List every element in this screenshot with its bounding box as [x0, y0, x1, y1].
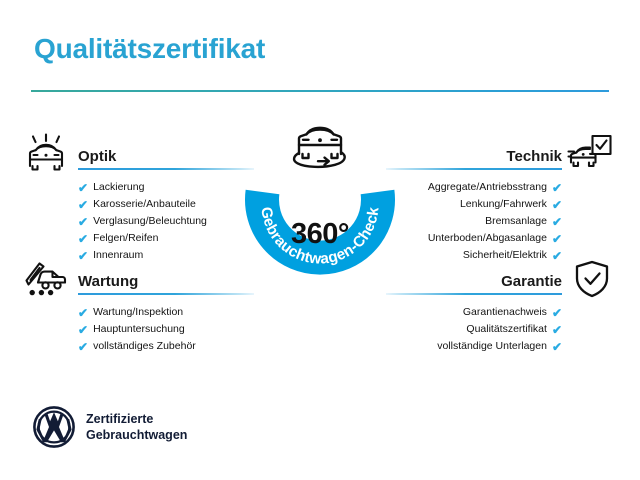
section-technik-list: Aggregate/Antriebsstrang ✔ Lenkung/Fahrw…	[386, 179, 562, 264]
list-item-label: Aggregate/Antriebsstrang	[428, 179, 547, 196]
list-item: ✔ Felgen/Reifen	[78, 230, 254, 247]
section-garantie-list: Garantienachweis ✔ Qualitätszertifikat ✔…	[386, 304, 562, 355]
check-icon: ✔	[78, 324, 88, 336]
list-item-label: Garantienachweis	[463, 304, 547, 321]
list-item: vollständige Unterlagen ✔	[386, 338, 562, 355]
section-wartung: Wartung ✔ Wartung/Inspektion ✔ Hauptunte…	[78, 265, 254, 355]
list-item: Garantienachweis ✔	[386, 304, 562, 321]
section-wartung-header: Wartung	[78, 265, 254, 295]
list-item-label: Karosserie/Anbauteile	[93, 196, 196, 213]
list-item-label: Sicherheit/Elektrik	[463, 247, 547, 264]
section-technik-divider	[386, 168, 562, 170]
list-item-label: Lackierung	[93, 179, 144, 196]
section-wartung-title: Wartung	[78, 273, 138, 290]
check-icon: ✔	[552, 233, 562, 245]
check-icon: ✔	[552, 341, 562, 353]
check-icon: ✔	[78, 182, 88, 194]
car-polish-shine-icon	[23, 133, 69, 173]
shield-check-icon	[569, 259, 615, 299]
section-garantie-divider	[386, 293, 562, 295]
section-garantie-title: Garantie	[501, 273, 562, 290]
list-item: ✔ Verglasung/Beleuchtung	[78, 213, 254, 230]
vw-text-line2: Gebrauchtwagen	[86, 427, 187, 443]
section-garantie-header: Garantie	[386, 265, 562, 295]
section-optik-header: Optik	[78, 140, 254, 170]
title-divider	[31, 90, 609, 92]
list-item-label: Qualitätszertifikat	[466, 321, 547, 338]
check-icon: ✔	[552, 324, 562, 336]
check-icon: ✔	[552, 307, 562, 319]
wrench-car-service-icon	[23, 258, 69, 298]
badge-360-gebrauchtwagen-check: Gebrauchtwagen-Check 360°	[237, 122, 403, 288]
page-title: Qualitätszertifikat	[34, 33, 265, 65]
check-icon: ✔	[552, 199, 562, 211]
list-item-label: Verglasung/Beleuchtung	[93, 213, 207, 230]
check-icon: ✔	[78, 307, 88, 319]
list-item: Bremsanlage ✔	[386, 213, 562, 230]
list-item-label: Lenkung/Fahrwerk	[460, 196, 547, 213]
check-icon: ✔	[552, 216, 562, 228]
section-wartung-list: ✔ Wartung/Inspektion ✔ Hauptuntersuchung…	[78, 304, 254, 355]
check-icon: ✔	[78, 199, 88, 211]
list-item: Qualitätszertifikat ✔	[386, 321, 562, 338]
check-icon: ✔	[78, 233, 88, 245]
volkswagen-logo	[33, 406, 75, 448]
certificate-page: Qualitätszertifikat Optik ✔ Lackierung ✔…	[0, 0, 640, 480]
list-item: ✔ Wartung/Inspektion	[78, 304, 254, 321]
volkswagen-logo-lockup: Zertifizierte Gebrauchtwagen	[33, 406, 187, 448]
list-item-label: Bremsanlage	[485, 213, 547, 230]
car-rotate-360-icon	[288, 118, 352, 176]
car-checklist-icon	[567, 133, 613, 173]
list-item: Sicherheit/Elektrik ✔	[386, 247, 562, 264]
list-item-label: vollständiges Zubehör	[93, 338, 196, 355]
check-icon: ✔	[78, 250, 88, 262]
list-item-label: Innenraum	[93, 247, 143, 264]
section-technik: Technik Aggregate/Antriebsstrang ✔ Lenku…	[386, 140, 562, 264]
volkswagen-logo-text: Zertifizierte Gebrauchtwagen	[86, 411, 187, 443]
check-icon: ✔	[78, 216, 88, 228]
section-garantie: Garantie Garantienachweis ✔ Qualitätszer…	[386, 265, 562, 355]
list-item: ✔ vollständiges Zubehör	[78, 338, 254, 355]
list-item-label: Felgen/Reifen	[93, 230, 158, 247]
list-item-label: Unterboden/Abgasanlage	[428, 230, 547, 247]
badge-center-value: 360°	[237, 218, 403, 251]
section-optik-title: Optik	[78, 148, 116, 165]
list-item: ✔ Lackierung	[78, 179, 254, 196]
list-item: Lenkung/Fahrwerk ✔	[386, 196, 562, 213]
list-item-label: vollständige Unterlagen	[437, 338, 547, 355]
list-item: ✔ Innenraum	[78, 247, 254, 264]
list-item: ✔ Karosserie/Anbauteile	[78, 196, 254, 213]
section-wartung-divider	[78, 293, 254, 295]
check-icon: ✔	[78, 341, 88, 353]
list-item: Unterboden/Abgasanlage ✔	[386, 230, 562, 247]
list-item-label: Hauptuntersuchung	[93, 321, 185, 338]
list-item-label: Wartung/Inspektion	[93, 304, 183, 321]
list-item: Aggregate/Antriebsstrang ✔	[386, 179, 562, 196]
section-optik-list: ✔ Lackierung ✔ Karosserie/Anbauteile ✔ V…	[78, 179, 254, 264]
check-icon: ✔	[552, 250, 562, 262]
check-icon: ✔	[552, 182, 562, 194]
section-optik: Optik ✔ Lackierung ✔ Karosserie/Anbautei…	[78, 140, 254, 264]
section-technik-header: Technik	[386, 140, 562, 170]
section-technik-title: Technik	[506, 148, 562, 165]
vw-text-line1: Zertifizierte	[86, 411, 187, 427]
list-item: ✔ Hauptuntersuchung	[78, 321, 254, 338]
section-optik-divider	[78, 168, 254, 170]
